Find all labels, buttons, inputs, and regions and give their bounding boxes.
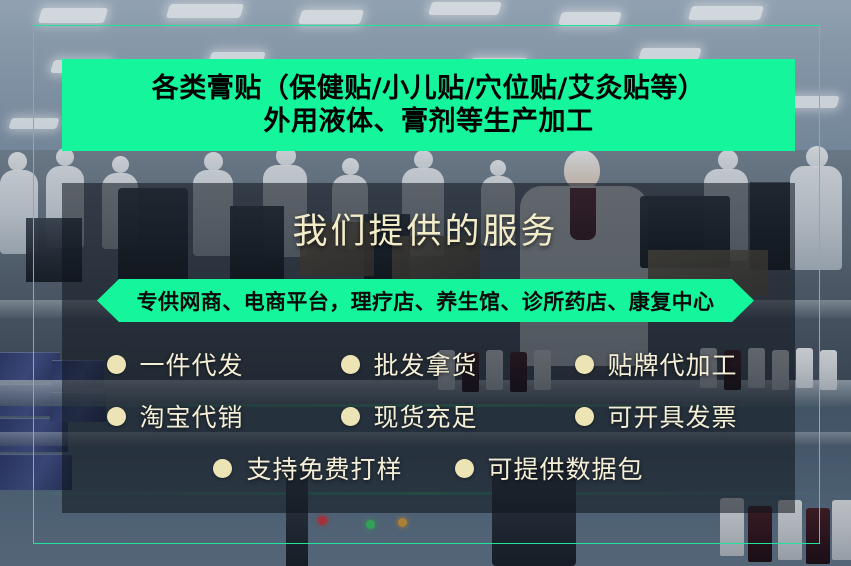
dot-bullet-icon xyxy=(213,459,232,478)
service-label: 贴牌代加工 xyxy=(608,346,738,382)
dot-bullet-icon xyxy=(575,355,594,374)
dot-bullet-icon xyxy=(341,407,360,426)
section-title: 我们提供的服务 xyxy=(0,203,851,254)
service-item[interactable]: 贴牌代加工 xyxy=(575,346,751,382)
dot-bullet-icon xyxy=(455,459,474,478)
service-row-3: 支持免费打样 可提供数据包 xyxy=(62,442,795,494)
service-item[interactable]: 可开具发票 xyxy=(575,398,751,434)
service-item[interactable]: 批发拿货 xyxy=(341,346,517,382)
target-market-text: 专供网商、电商平台，理疗店、养生馆、诊所药店、康复中心 xyxy=(137,286,715,316)
service-label: 可提供数据包 xyxy=(488,450,644,486)
promo-poster: 各类膏贴（保健贴/小儿贴/穴位贴/艾灸贴等） 外用液体、膏剂等生产加工 我们提供… xyxy=(0,0,851,566)
service-row-1: 一件代发 批发拿货 贴牌代加工 xyxy=(62,338,795,390)
dot-bullet-icon xyxy=(107,355,126,374)
service-label: 淘宝代销 xyxy=(140,398,244,434)
service-label: 批发拿货 xyxy=(374,346,478,382)
service-item[interactable]: 现货充足 xyxy=(341,398,517,434)
dot-bullet-icon xyxy=(341,355,360,374)
service-item[interactable]: 支持免费打样 xyxy=(213,450,402,486)
service-item[interactable]: 一件代发 xyxy=(107,346,283,382)
headline-banner: 各类膏贴（保健贴/小儿贴/穴位贴/艾灸贴等） 外用液体、膏剂等生产加工 xyxy=(62,59,795,151)
target-market-ribbon: 专供网商、电商平台，理疗店、养生馆、诊所药店、康复中心 xyxy=(97,279,754,322)
service-label: 现货充足 xyxy=(374,398,478,434)
headline-line-1: 各类膏贴（保健贴/小儿贴/穴位贴/艾灸贴等） xyxy=(152,73,706,104)
dot-bullet-icon xyxy=(575,407,594,426)
service-label: 一件代发 xyxy=(140,346,244,382)
headline-line-2: 外用液体、膏剂等生产加工 xyxy=(264,106,594,137)
dot-bullet-icon xyxy=(107,407,126,426)
service-item[interactable]: 淘宝代销 xyxy=(107,398,283,434)
service-label: 支持免费打样 xyxy=(246,450,402,486)
service-row-2: 淘宝代销 现货充足 可开具发票 xyxy=(62,390,795,442)
service-item[interactable]: 可提供数据包 xyxy=(455,450,644,486)
service-label: 可开具发票 xyxy=(608,398,738,434)
service-list: 一件代发 批发拿货 贴牌代加工 淘宝代销 现货充足 可开具发票 xyxy=(62,338,795,494)
